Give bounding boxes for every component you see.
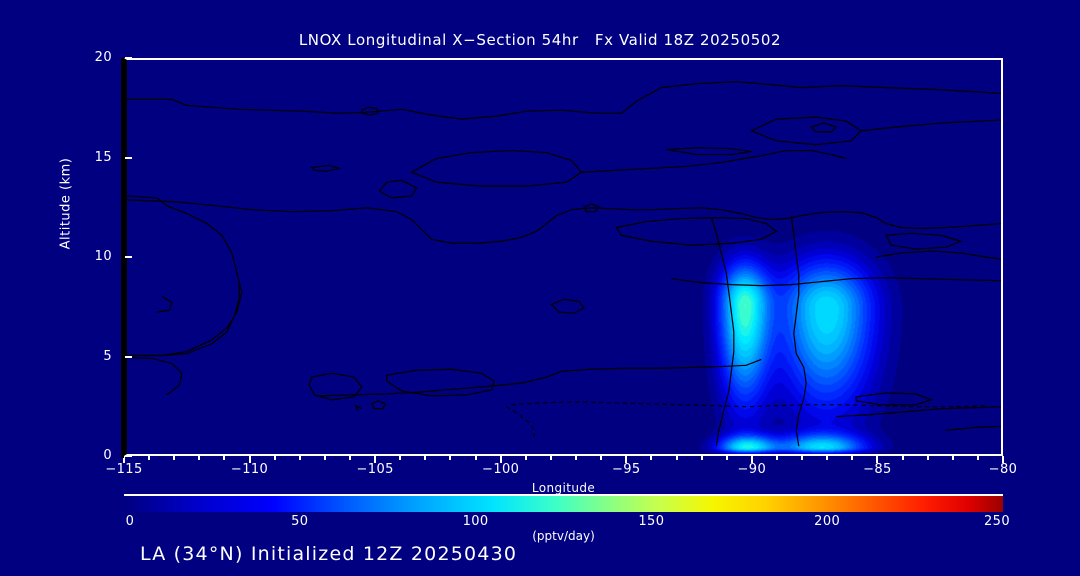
y-tick-label: 10: [72, 249, 112, 264]
x-tick-label: −90: [717, 462, 787, 477]
x-tick-label: −110: [215, 462, 285, 477]
x-tick-label: −115: [89, 462, 159, 477]
x-tick-mark: [500, 456, 502, 463]
x-minor-tick-mark: [600, 456, 602, 460]
x-minor-tick-mark: [726, 456, 728, 460]
x-minor-tick-mark: [676, 456, 678, 460]
x-minor-tick-mark: [575, 456, 577, 460]
x-minor-tick-mark: [324, 456, 326, 460]
x-tick-label: −85: [842, 462, 912, 477]
x-tick-label: −100: [466, 462, 536, 477]
colorbar-tick-label: 0: [90, 514, 170, 529]
x-tick-mark: [1002, 456, 1004, 463]
x-minor-tick-mark: [148, 456, 150, 460]
x-minor-tick-mark: [525, 456, 527, 460]
x-tick-label: −95: [591, 462, 661, 477]
figure-root: LNOX Longitudinal X−Section 54hr Fx Vali…: [0, 0, 1080, 576]
y-tick-mark: [125, 356, 132, 358]
x-minor-tick-mark: [902, 456, 904, 460]
x-tick-mark: [876, 456, 878, 463]
x-minor-tick-mark: [550, 456, 552, 460]
page-title: LNOX Longitudinal X−Section 54hr Fx Vali…: [0, 31, 1080, 49]
x-minor-tick-mark: [299, 456, 301, 460]
x-minor-tick-mark: [198, 456, 200, 460]
colorbar-tick-label: 50: [260, 514, 340, 529]
colorbar: [124, 496, 1003, 512]
x-minor-tick-mark: [851, 456, 853, 460]
colorbar-tick-label: 100: [436, 514, 516, 529]
x-minor-tick-mark: [349, 456, 351, 460]
colorbar-units-label: (pptv/day): [124, 529, 1003, 543]
y-tick-label: 0: [72, 448, 112, 463]
x-minor-tick-mark: [475, 456, 477, 460]
y-tick-label: 15: [72, 150, 112, 165]
x-minor-tick-mark: [701, 456, 703, 460]
x-minor-tick-mark: [399, 456, 401, 460]
y-axis-spine: [121, 58, 124, 458]
x-tick-label: −105: [340, 462, 410, 477]
x-tick-mark: [374, 456, 376, 463]
x-minor-tick-mark: [952, 456, 954, 460]
y-tick-mark: [125, 57, 132, 59]
x-tick-label: −80: [968, 462, 1038, 477]
x-minor-tick-mark: [274, 456, 276, 460]
colorbar-tick-label: 150: [611, 514, 691, 529]
y-tick-label: 20: [72, 50, 112, 65]
x-tick-mark: [249, 456, 251, 463]
y-axis-title: Altitude (km): [59, 134, 74, 274]
x-minor-tick-mark: [650, 456, 652, 460]
colorbar-tick-label: 200: [787, 514, 867, 529]
y-tick-mark: [125, 256, 132, 258]
x-minor-tick-mark: [223, 456, 225, 460]
colorbar-tick-label: 250: [957, 514, 1037, 529]
y-tick-mark: [125, 157, 132, 159]
footer-note: LA (34°N) Initialized 12Z 20250430: [140, 543, 517, 565]
y-tick-label: 5: [72, 349, 112, 364]
y-tick-mark: [125, 455, 132, 457]
plot-area: [124, 58, 1003, 456]
x-minor-tick-mark: [424, 456, 426, 460]
x-minor-tick-mark: [776, 456, 778, 460]
x-tick-mark: [751, 456, 753, 463]
x-minor-tick-mark: [801, 456, 803, 460]
lnox-heatmap-field: [127, 60, 1001, 454]
x-minor-tick-mark: [927, 456, 929, 460]
x-axis-title: Longitude: [124, 481, 1003, 495]
colorbar-gradient: [124, 496, 1003, 512]
x-tick-mark: [625, 456, 627, 463]
x-minor-tick-mark: [173, 456, 175, 460]
x-minor-tick-mark: [826, 456, 828, 460]
x-minor-tick-mark: [977, 456, 979, 460]
x-minor-tick-mark: [449, 456, 451, 460]
